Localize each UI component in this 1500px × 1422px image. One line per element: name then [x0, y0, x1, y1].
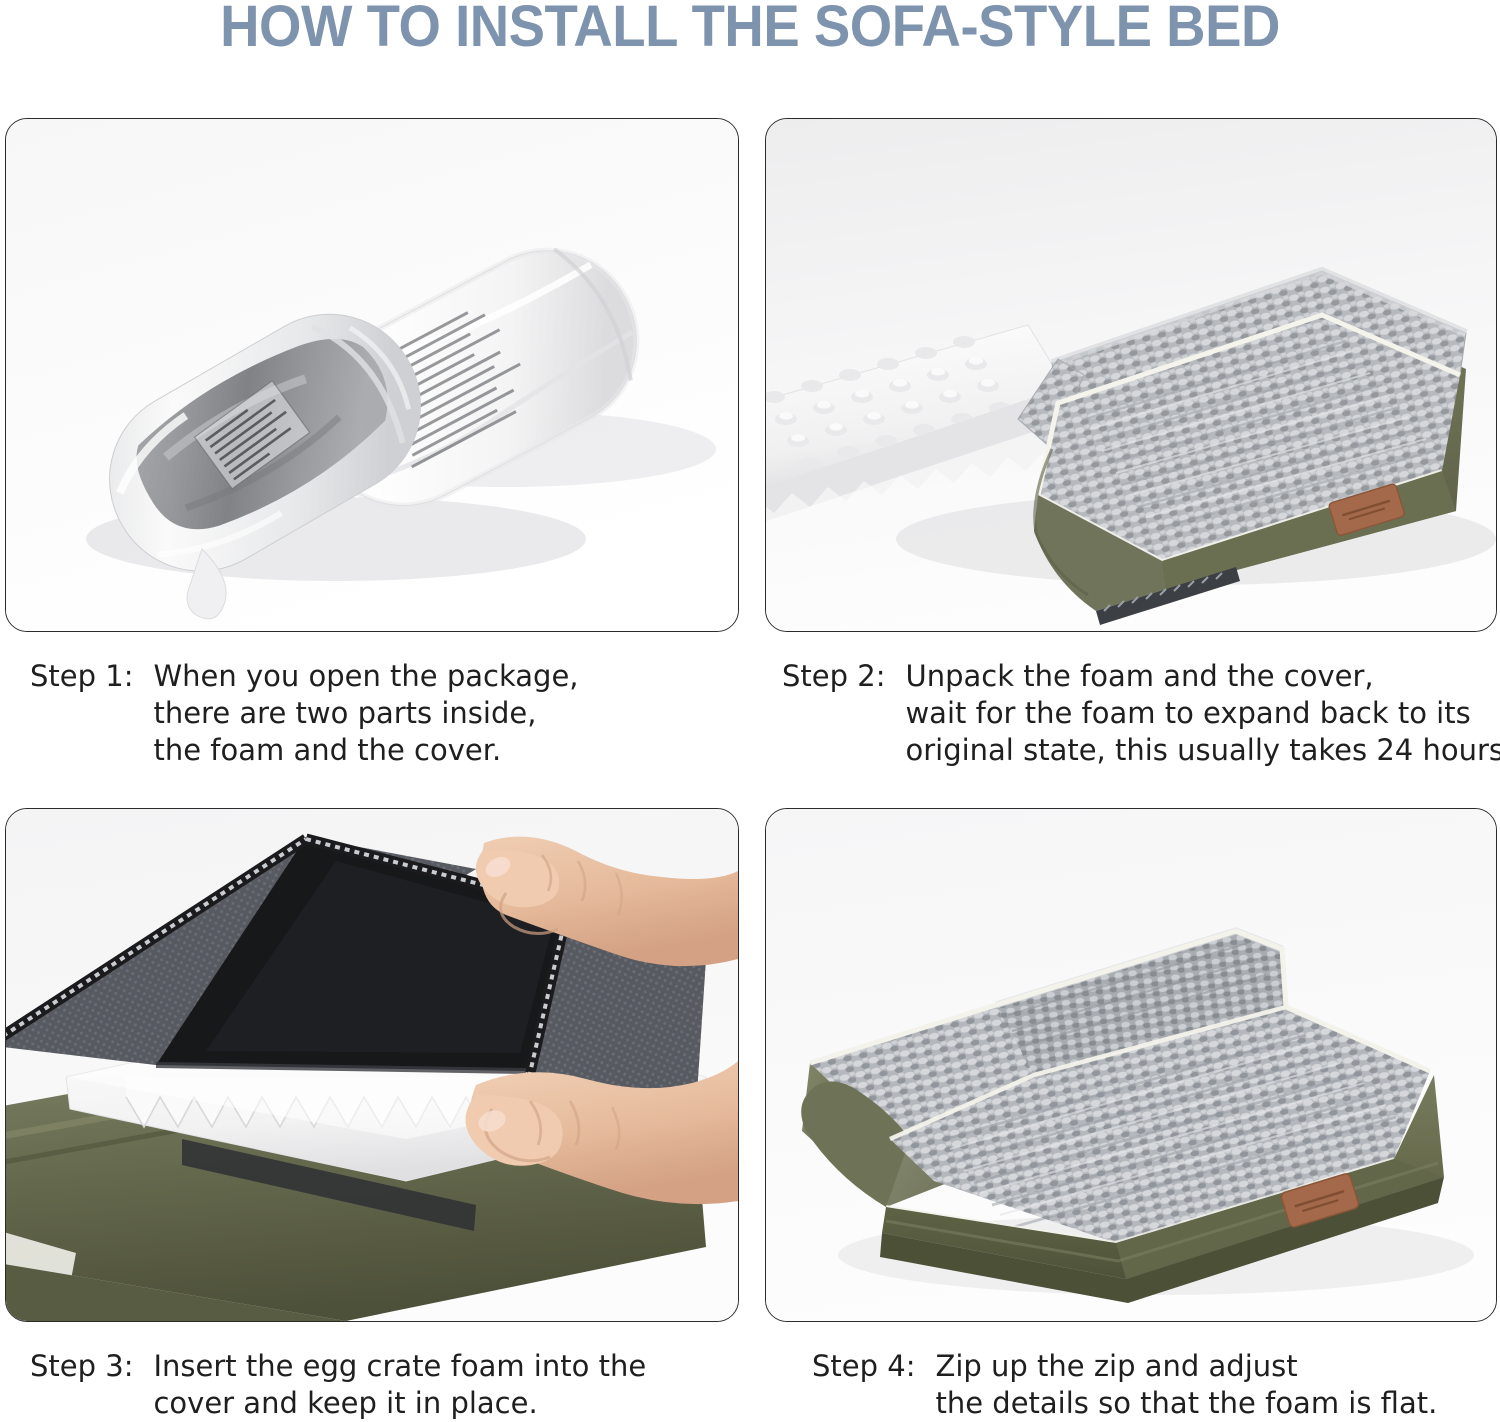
step-1-label: Step 1:	[30, 658, 153, 695]
step-4-label: Step 4:	[812, 1348, 935, 1385]
step-2-text: Unpack the foam and the cover, wait for …	[905, 658, 1500, 769]
step-1-line-1: When you open the package,	[153, 658, 730, 695]
step-3-image-panel	[5, 808, 739, 1322]
step-1-line-3: the foam and the cover.	[153, 732, 730, 769]
step-2-line-2: wait for the foam to expand back to its	[905, 695, 1500, 732]
step-2-line-3: original state, this usually takes 24 ho…	[905, 732, 1500, 769]
step-1-image-panel	[5, 118, 739, 632]
step-1-line-2: there are two parts inside,	[153, 695, 730, 732]
unpacked-foam-and-cover-photo	[766, 119, 1496, 631]
step-2-label: Step 2:	[782, 658, 905, 695]
page-title: HOW TO INSTALL THE SOFA-STYLE BED	[45, 0, 1455, 58]
step-3-caption: Step 3: Insert the egg crate foam into t…	[30, 1348, 730, 1422]
step-2-caption: Step 2: Unpack the foam and the cover, w…	[782, 658, 1497, 769]
instruction-sheet: HOW TO INSTALL THE SOFA-STYLE BED	[0, 0, 1500, 1422]
step-4-caption: Step 4: Zip up the zip and adjust the de…	[812, 1348, 1500, 1422]
packaging-rolls-photo	[6, 119, 738, 631]
finished-bed-photo	[766, 809, 1496, 1321]
step-2-line-1: Unpack the foam and the cover,	[905, 658, 1500, 695]
step-3-label: Step 3:	[30, 1348, 153, 1385]
step-4-line-1: Zip up the zip and adjust	[935, 1348, 1500, 1385]
inserting-foam-photo	[6, 809, 738, 1321]
step-3-line-2: cover and keep it in place.	[153, 1385, 730, 1422]
step-3-line-1: Insert the egg crate foam into the	[153, 1348, 730, 1385]
step-3-text: Insert the egg crate foam into the cover…	[153, 1348, 730, 1422]
step-1-caption: Step 1: When you open the package, there…	[30, 658, 730, 769]
step-1-text: When you open the package, there are two…	[153, 658, 730, 769]
step-4-text: Zip up the zip and adjust the details so…	[935, 1348, 1500, 1422]
step-4-image-panel	[765, 808, 1497, 1322]
step-4-line-2: the details so that the foam is flat.	[935, 1385, 1500, 1422]
step-2-image-panel	[765, 118, 1497, 632]
